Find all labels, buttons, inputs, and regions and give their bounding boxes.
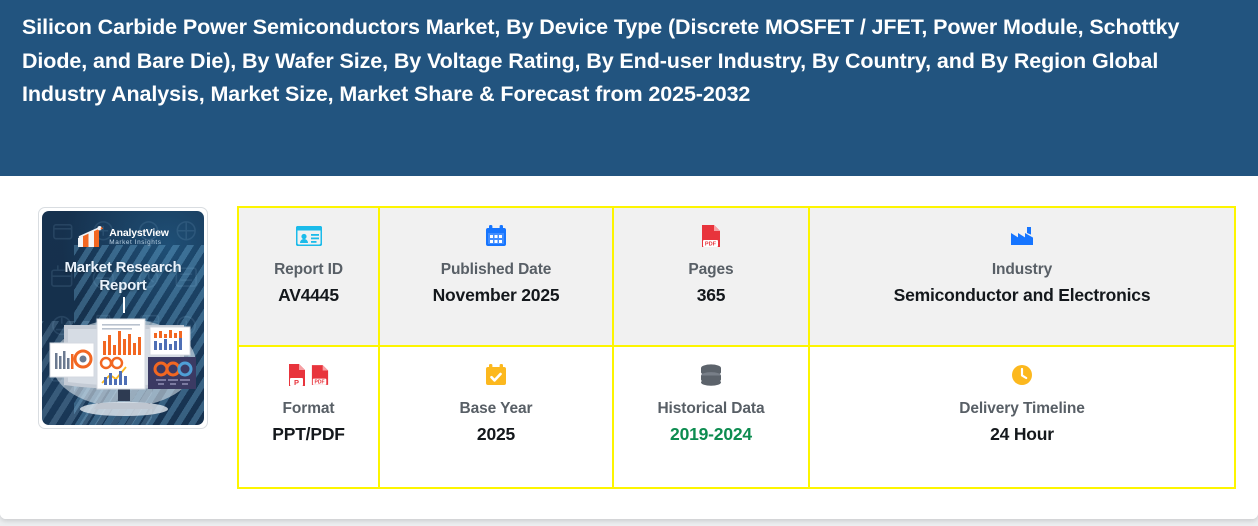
clock-icon bbox=[1011, 360, 1033, 390]
meta-value: 2019-2024 bbox=[670, 424, 752, 445]
logo-tagline: Market Insights bbox=[109, 240, 168, 246]
meta-cell-base-year: Base Year 2025 bbox=[380, 347, 614, 487]
pdf-file-icon: PDF bbox=[701, 221, 721, 251]
calendar-check-icon bbox=[485, 360, 507, 390]
report-meta-grid: Report ID AV4445 bbox=[237, 206, 1236, 489]
meta-cell-format: P PDF Format PPT/PDF bbox=[239, 347, 380, 487]
meta-label: Delivery Timeline bbox=[959, 399, 1085, 418]
report-header: Silicon Carbide Power Semiconductors Mar… bbox=[0, 0, 1258, 176]
cover-monitor-illustration bbox=[42, 297, 204, 421]
id-card-icon bbox=[296, 221, 322, 251]
meta-grid-row-1: Report ID AV4445 bbox=[239, 208, 1234, 347]
cover-heading-line1: Market Research bbox=[64, 259, 181, 276]
report-summary-card: Silicon Carbide Power Semiconductors Mar… bbox=[0, 0, 1258, 519]
meta-cell-report-id: Report ID AV4445 bbox=[239, 208, 380, 345]
meta-cell-pages: PDF Pages 365 bbox=[614, 208, 810, 345]
meta-value: 2025 bbox=[477, 424, 515, 445]
meta-label: Published Date bbox=[441, 260, 552, 279]
meta-value: November 2025 bbox=[433, 285, 560, 306]
report-cover-image: AnalystView Market Insights Market Resea… bbox=[42, 211, 204, 425]
cover-heading-line2: Report bbox=[99, 277, 146, 294]
meta-label: Base Year bbox=[460, 399, 533, 418]
ppt-pdf-files-icon: P PDF bbox=[288, 360, 329, 390]
meta-cell-delivery-timeline: Delivery Timeline 24 Hour bbox=[810, 347, 1234, 487]
meta-cell-industry: Industry Semiconductor and Electronics bbox=[810, 208, 1234, 345]
meta-label: Historical Data bbox=[657, 399, 764, 418]
analystview-logo: AnalystView Market Insights bbox=[42, 226, 204, 248]
cover-heading: Market Research Report bbox=[42, 259, 204, 295]
report-body: AnalystView Market Insights Market Resea… bbox=[0, 176, 1258, 519]
bar-chart-logo-icon bbox=[77, 226, 105, 248]
meta-label: Pages bbox=[688, 260, 733, 279]
pdf-file-icon: PDF bbox=[311, 363, 329, 387]
page-title: Silicon Carbide Power Semiconductors Mar… bbox=[22, 11, 1224, 112]
meta-value: 365 bbox=[697, 285, 726, 306]
ppt-file-icon: P bbox=[288, 363, 306, 387]
calendar-icon bbox=[485, 221, 507, 251]
meta-cell-historical-data: Historical Data 2019-2024 bbox=[614, 347, 810, 487]
svg-text:P: P bbox=[294, 378, 299, 387]
logo-text-block: AnalystView Market Insights bbox=[109, 228, 168, 246]
report-cover-thumbnail[interactable]: AnalystView Market Insights Market Resea… bbox=[38, 207, 208, 429]
meta-value: PPT/PDF bbox=[272, 424, 345, 445]
logo-brand-name: AnalystView bbox=[109, 228, 168, 239]
svg-text:PDF: PDF bbox=[315, 380, 325, 386]
database-icon bbox=[699, 360, 723, 390]
meta-label: Format bbox=[283, 399, 335, 418]
meta-label: Industry bbox=[992, 260, 1052, 279]
svg-text:PDF: PDF bbox=[705, 242, 717, 248]
meta-value: AV4445 bbox=[278, 285, 339, 306]
meta-label: Report ID bbox=[274, 260, 343, 279]
page-root: Silicon Carbide Power Semiconductors Mar… bbox=[0, 0, 1258, 526]
meta-cell-published-date: Published Date November 2025 bbox=[380, 208, 614, 345]
meta-value: 24 Hour bbox=[990, 424, 1054, 445]
factory-icon bbox=[1010, 221, 1034, 251]
meta-grid-row-2: P PDF Format PPT/PDF bbox=[239, 347, 1234, 487]
meta-value: Semiconductor and Electronics bbox=[894, 285, 1151, 306]
